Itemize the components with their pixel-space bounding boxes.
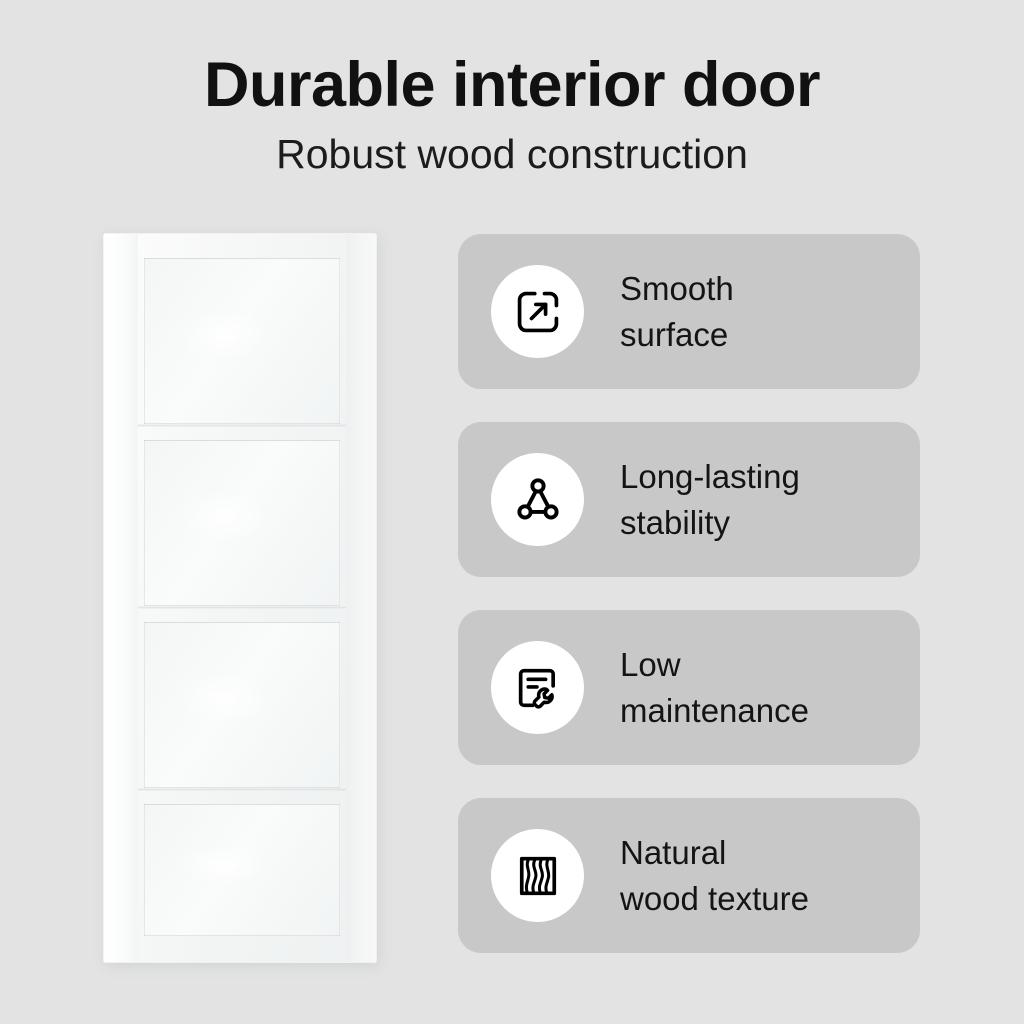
feature-label: Long-lasting stability [620, 454, 800, 544]
door-rail [138, 788, 346, 791]
door-stile-left [104, 234, 138, 962]
document-wrench-icon [491, 641, 584, 734]
header: Durable interior door Robust wood constr… [0, 52, 1024, 177]
door-body [104, 234, 376, 962]
door-panel-area [138, 234, 346, 962]
door-panel [144, 804, 340, 936]
product-image-door [104, 234, 376, 962]
wood-grain-icon [491, 829, 584, 922]
door-stile-right [346, 234, 376, 962]
feature-card-list: Smooth surface Long-lasting stability [458, 234, 920, 953]
feature-label: Low maintenance [620, 642, 809, 732]
door-panel [144, 258, 340, 424]
infographic-page: Durable interior door Robust wood constr… [0, 0, 1024, 1024]
door-rail [138, 424, 346, 427]
door-panel [144, 622, 340, 788]
feature-card-low-maintenance[interactable]: Low maintenance [458, 610, 920, 765]
page-subtitle: Robust wood construction [0, 132, 1024, 177]
feature-card-natural-wood-texture[interactable]: Natural wood texture [458, 798, 920, 953]
page-title: Durable interior door [0, 52, 1024, 118]
feature-card-long-lasting-stability[interactable]: Long-lasting stability [458, 422, 920, 577]
feature-label: Smooth surface [620, 266, 734, 356]
door-panel [144, 440, 340, 606]
stability-nodes-icon [491, 453, 584, 546]
smooth-surface-icon [491, 265, 584, 358]
door-rail [138, 606, 346, 609]
feature-label: Natural wood texture [620, 830, 809, 920]
feature-card-smooth-surface[interactable]: Smooth surface [458, 234, 920, 389]
